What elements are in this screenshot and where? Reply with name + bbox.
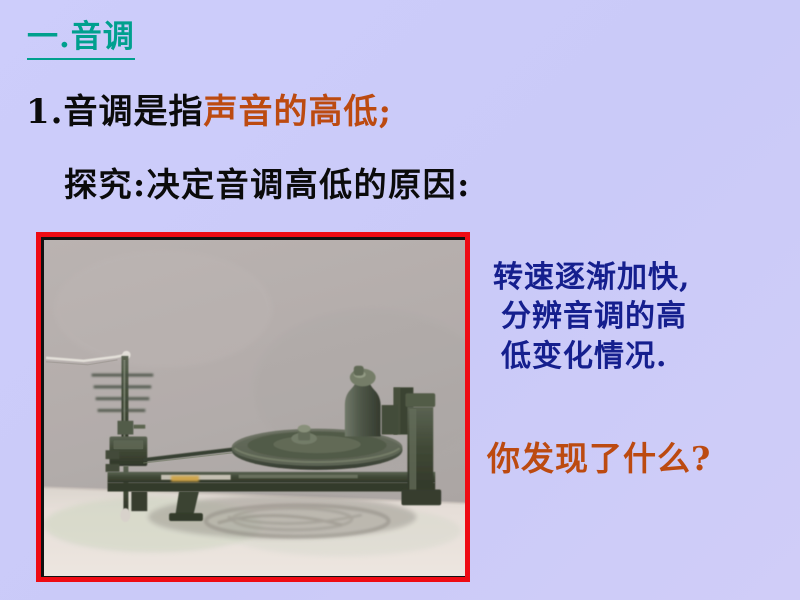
instruction-note-line: 转速逐渐加快, — [493, 258, 793, 297]
experiment-photo — [44, 240, 465, 576]
instruction-note-line: 低变化情况. — [493, 337, 793, 376]
body-line-1-highlight: 声音的高低; — [204, 92, 393, 132]
body-line-1: 1.音调是指声音的高低; — [26, 95, 392, 131]
body-line-2: 探究:决定音调高低的原因: — [64, 168, 471, 203]
body-line-1-prefix: 1.音调是指 — [26, 92, 204, 132]
discussion-question: 你发现了什么? — [487, 441, 711, 477]
presentation-slide: 一.音调 1.音调是指声音的高低; 探究:决定音调高低的原因: — [0, 0, 800, 600]
slide-title-block: 一.音调 — [27, 22, 135, 60]
instruction-note: 转速逐渐加快, 分辨音调的高 低变化情况. — [493, 258, 793, 376]
experiment-photo-frame — [36, 232, 470, 582]
apparatus-illustration — [44, 240, 465, 576]
page-title: 一.音调 — [27, 22, 135, 60]
instruction-note-line: 分辨音调的高 — [493, 297, 793, 336]
